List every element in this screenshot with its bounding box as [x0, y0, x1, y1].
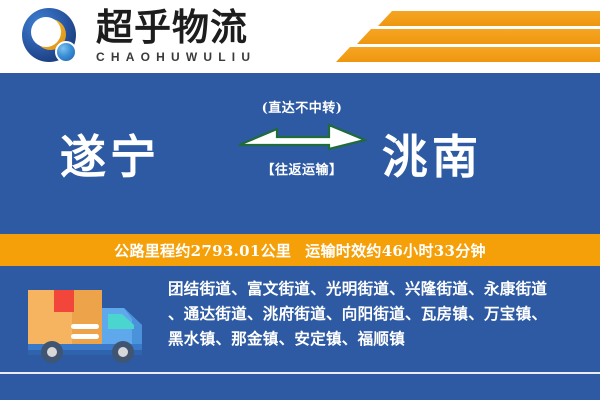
delivery-truck-icon	[24, 278, 169, 368]
coverage-section: 团结街道、富文街道、光明街道、兴隆街道、永康街道 、通达街道、洮府街道、向阳街道…	[0, 266, 600, 400]
coverage-line: 黑水镇、那金镇、安定镇、福顺镇	[168, 326, 588, 351]
footer-divider	[0, 372, 600, 374]
header-stripe-3	[336, 47, 600, 62]
header-stripe-1	[378, 11, 600, 26]
logistics-route-banner: 超乎物流 CHAOHUWULIU 遂宁 (直达不中转) 【往返运输】 洮南 公路…	[0, 0, 600, 400]
banner-header: 超乎物流 CHAOHUWULIU	[0, 0, 600, 73]
route-info-bar: 公路里程约2793.01公里 运输时效约46小时33分钟	[0, 234, 600, 266]
destination-city: 洮南	[382, 121, 482, 187]
route-section: 遂宁 (直达不中转) 【往返运输】 洮南	[0, 73, 600, 234]
coverage-line: 、通达街道、洮府街道、向阳街道、瓦房镇、万宝镇、	[168, 301, 588, 326]
brand-name-cn: 超乎物流	[96, 6, 286, 48]
header-stripe-2	[357, 29, 600, 44]
brand-name-en: CHAOHUWULIU	[96, 50, 286, 64]
roundtrip-note: 【往返运输】	[236, 159, 368, 178]
logo-dot-icon	[55, 41, 77, 63]
double-headed-arrow-icon	[237, 123, 367, 153]
coverage-line: 团结街道、富文街道、光明街道、兴隆街道、永康街道	[168, 276, 588, 301]
coverage-area-list: 团结街道、富文街道、光明街道、兴隆街道、永康街道 、通达街道、洮府街道、向阳街道…	[168, 276, 588, 351]
distance-text: 公路里程约2793.01公里	[114, 240, 291, 261]
company-logo-icon	[22, 8, 80, 66]
logo-crescent-cutout	[31, 17, 61, 47]
route-arrow-block: (直达不中转) 【往返运输】	[236, 97, 368, 178]
duration-text: 运输时效约46小时33分钟	[305, 240, 486, 261]
direct-shipping-note: (直达不中转)	[236, 97, 368, 116]
origin-city: 遂宁	[60, 121, 160, 187]
brand-lockup: 超乎物流 CHAOHUWULIU	[96, 6, 286, 64]
